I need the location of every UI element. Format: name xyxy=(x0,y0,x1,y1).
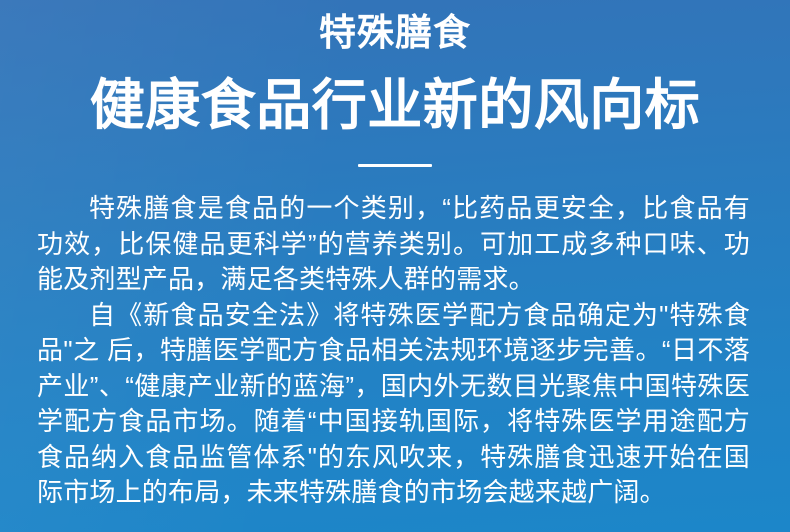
poster-header: 特殊膳食 健康食品行业新的风向标 xyxy=(0,0,790,167)
page-title: 健康食品行业新的风向标 xyxy=(0,55,790,136)
paragraph-2: 自《新食品安全法》将特殊医学配方食品确定为"特殊食品"之 后，特膳医学配方食品相… xyxy=(37,298,750,511)
divider-wrapper xyxy=(0,136,790,167)
eyebrow-heading: 特殊膳食 xyxy=(0,0,790,55)
paragraph-1: 特殊膳食是食品的一个类别，“比药品更安全，比食品有功效，比保健品更科学”的营养类… xyxy=(37,191,750,298)
body-copy: 特殊膳食是食品的一个类别，“比药品更安全，比食品有功效，比保健品更科学”的营养类… xyxy=(0,167,790,511)
poster-root: 特殊膳食 健康食品行业新的风向标 特殊膳食是食品的一个类别，“比药品更安全，比食… xyxy=(0,0,790,532)
